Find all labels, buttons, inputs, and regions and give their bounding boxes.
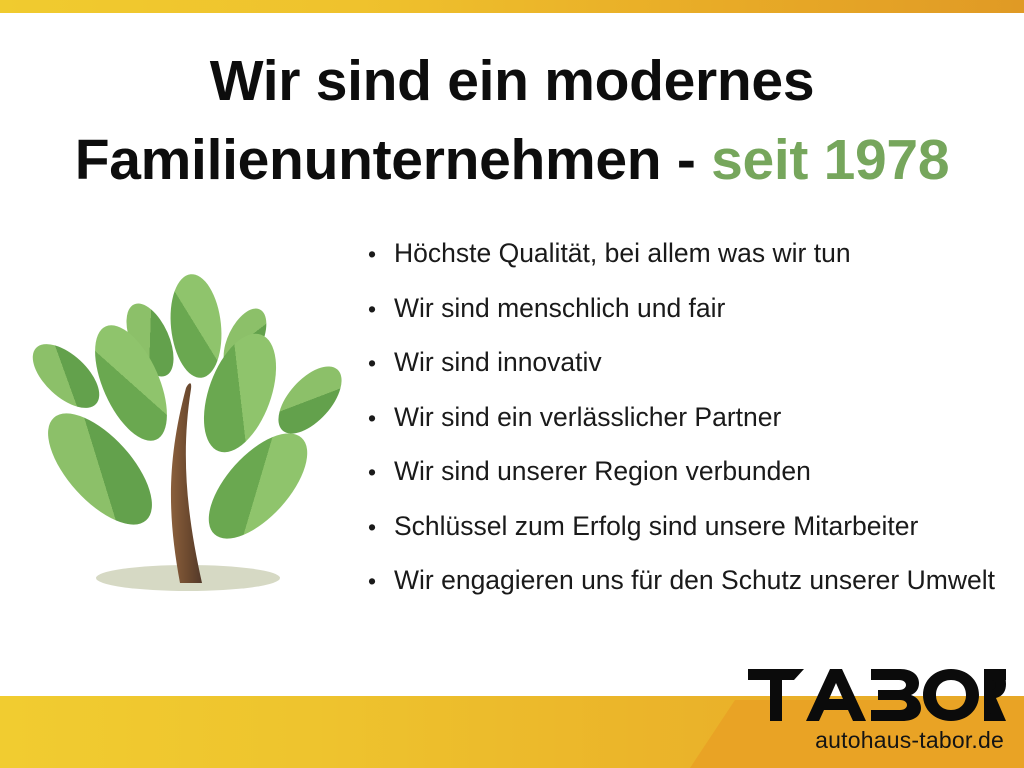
- page-title: Wir sind ein modernes Familienunternehme…: [0, 42, 1024, 199]
- list-item-label: Höchste Qualität, bei allem was wir tun: [394, 238, 1017, 269]
- list-item-label: Wir engagieren uns für den Schutz unsere…: [394, 565, 1017, 596]
- bullet-dot-icon: •: [362, 298, 394, 321]
- tree-trunk: [171, 383, 202, 583]
- logo-letter-o: [923, 669, 979, 721]
- list-item: • Schlüssel zum Erfolg sind unsere Mitar…: [362, 511, 1017, 566]
- list-item: • Wir sind unserer Region verbunden: [362, 456, 1017, 511]
- value-bullet-list: • Höchste Qualität, bei allem was wir tu…: [362, 238, 1017, 620]
- headline-line-2-main: Familienunternehmen -: [75, 128, 711, 192]
- top-gradient-bar: [0, 0, 1024, 13]
- bullet-dot-icon: •: [362, 243, 394, 266]
- list-item-label: Schlüssel zum Erfolg sind unsere Mitarbe…: [394, 511, 1017, 542]
- tree-illustration: [18, 248, 363, 610]
- website-url[interactable]: autohaus-tabor.de: [815, 727, 1004, 754]
- bullet-dot-icon: •: [362, 352, 394, 375]
- headline-line-2: Familienunternehmen - seit 1978: [0, 121, 1024, 200]
- headline-accent-year: seit 1978: [711, 128, 949, 192]
- bullet-dot-icon: •: [362, 516, 394, 539]
- leaf-far-right-small: [267, 355, 353, 444]
- bullet-dot-icon: •: [362, 570, 394, 593]
- list-item: • Höchste Qualität, bei allem was wir tu…: [362, 238, 1017, 293]
- list-item-label: Wir sind innovativ: [394, 347, 1017, 378]
- list-item: • Wir sind menschlich und fair: [362, 293, 1017, 348]
- bullet-dot-icon: •: [362, 461, 394, 484]
- list-item-label: Wir sind unserer Region verbunden: [394, 456, 1017, 487]
- list-item-label: Wir sind menschlich und fair: [394, 293, 1017, 324]
- headline-line-1: Wir sind ein modernes: [0, 42, 1024, 121]
- slide-canvas: Wir sind ein modernes Familienunternehme…: [0, 0, 1024, 768]
- list-item: • Wir sind ein verlässlicher Partner: [362, 402, 1017, 457]
- list-item: • Wir engagieren uns für den Schutz unse…: [362, 565, 1017, 620]
- list-item-label: Wir sind ein verlässlicher Partner: [394, 402, 1017, 433]
- logo-letter-b: [871, 669, 921, 721]
- tabor-logo[interactable]: [748, 669, 1006, 721]
- logo-letter-t: [748, 669, 804, 721]
- list-item: • Wir sind innovativ: [362, 347, 1017, 402]
- bullet-dot-icon: •: [362, 407, 394, 430]
- logo-letter-a: [806, 669, 866, 721]
- leaf-top-center: [166, 272, 227, 381]
